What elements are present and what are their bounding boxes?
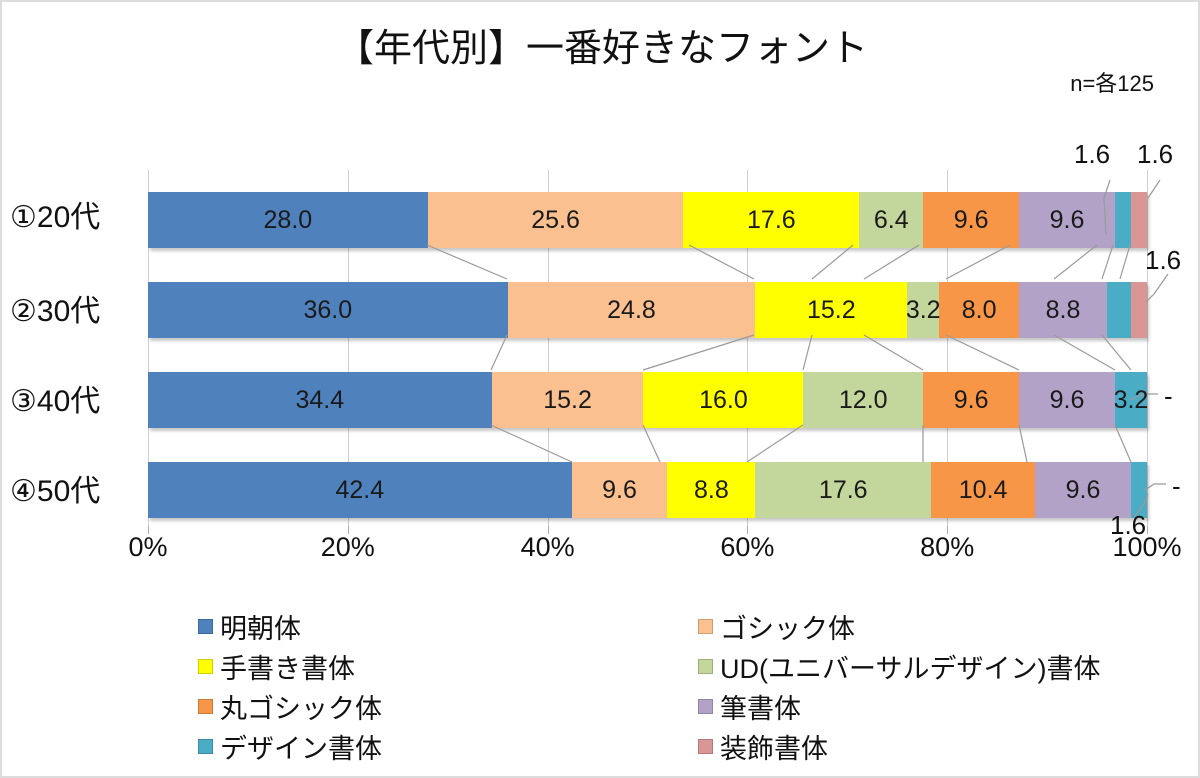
bar-segment[interactable]: 8.8 xyxy=(1019,282,1107,338)
legend-label: 丸ゴシック体 xyxy=(220,687,382,726)
legend-swatch-icon xyxy=(698,739,713,754)
bar-segment-value: 24.8 xyxy=(607,296,656,325)
bar-segment-value: 25.6 xyxy=(531,206,580,235)
x-tick-label-80: 80% xyxy=(920,532,974,563)
legend-item[interactable]: ゴシック体 xyxy=(698,607,1158,646)
bar-segment[interactable]: 28.0 xyxy=(148,192,428,248)
bar-segment-value: 9.6 xyxy=(954,386,989,415)
bar-segment-value: 17.6 xyxy=(819,476,868,505)
bar-segment-value: 6.4 xyxy=(874,206,909,235)
bar-segment[interactable]: 1.6 xyxy=(1131,192,1147,248)
bar-segment[interactable]: 3.2 xyxy=(907,282,939,338)
bar-segment[interactable]: 34.4 xyxy=(148,372,492,428)
bar-segment[interactable]: 15.2 xyxy=(755,282,907,338)
bar-segment-value: 9.6 xyxy=(602,476,637,505)
bar-row[interactable]: 42.49.68.817.610.49.61.6 xyxy=(148,462,1147,518)
row-label-30s: ②30代 xyxy=(10,286,142,330)
legend-item[interactable]: 丸ゴシック体 xyxy=(198,687,698,726)
x-tick-label-20: 20% xyxy=(321,532,375,563)
legend-label: ゴシック体 xyxy=(720,607,855,646)
bar-segment-value: 28.0 xyxy=(264,206,313,235)
bar-segment-value: 8.0 xyxy=(962,296,997,325)
legend-item[interactable]: デザイン書体 xyxy=(198,727,698,766)
bar-segment[interactable]: 16.0 xyxy=(643,372,803,428)
bar-segment-value: 9.6 xyxy=(1050,206,1085,235)
bar-segment[interactable]: 9.6 xyxy=(1019,372,1115,428)
bar-segment[interactable]: 3.2 xyxy=(1115,372,1147,428)
bar-segment-value: 9.6 xyxy=(1066,476,1101,505)
bar-segment[interactable]: 42.4 xyxy=(148,462,572,518)
bar-segment-value: 8.8 xyxy=(694,476,729,505)
bar-segment-value: 9.6 xyxy=(1050,386,1085,415)
plot-area: 28.025.617.66.49.69.61.61.636.024.815.23… xyxy=(148,170,1147,526)
chart-screenshot: 【年代別】一番好きなフォント n=各125 ①20代 ②30代 ③40代 ④50… xyxy=(0,0,1200,778)
legend-label: 筆書体 xyxy=(720,687,801,726)
bar-segment[interactable]: 9.6 xyxy=(1019,192,1115,248)
x-tick-label-100: 100% xyxy=(1112,532,1181,563)
row-label-20s: ①20代 xyxy=(10,192,142,236)
bar-segment-value: 15.2 xyxy=(807,296,856,325)
bar-segment[interactable]: 9.6 xyxy=(923,372,1019,428)
bar-segment-value: 3.2 xyxy=(1114,386,1149,415)
bar-segment-value: 15.2 xyxy=(543,386,592,415)
bar-segment-value: 10.4 xyxy=(959,476,1008,505)
legend-item[interactable]: 装飾書体 xyxy=(698,727,1158,766)
legend-label: 装飾書体 xyxy=(720,727,828,766)
bar-segment[interactable]: 12.0 xyxy=(803,372,923,428)
bar-segment[interactable]: 8.8 xyxy=(667,462,755,518)
legend-swatch-icon xyxy=(698,659,713,674)
bar-segment[interactable]: 24.8 xyxy=(508,282,756,338)
legend-swatch-icon xyxy=(198,659,213,674)
legend-label: 手書き書体 xyxy=(220,647,355,686)
bar-segment-value: 36.0 xyxy=(303,296,352,325)
legend-item[interactable]: UD(ユニバーサルデザイン)書体 xyxy=(698,647,1158,686)
bar-segment-value: 17.6 xyxy=(747,206,796,235)
bar-segment[interactable]: 8.0 xyxy=(939,282,1019,338)
bar-row[interactable]: 36.024.815.23.28.08.82.41.6 xyxy=(148,282,1147,338)
bar-segment[interactable]: 6.4 xyxy=(859,192,923,248)
bar-segment-value: 3.2 xyxy=(906,296,941,325)
callout-50s-decoration-dash: - xyxy=(1172,471,1181,502)
row-label-40s: ③40代 xyxy=(10,376,142,420)
gridline-100 xyxy=(1147,170,1148,526)
chart-title: 【年代別】一番好きなフォント xyxy=(2,26,1200,72)
callout-40s-decoration-dash: - xyxy=(1164,381,1173,412)
bar-segment[interactable]: 2.4 xyxy=(1107,282,1131,338)
bar-segment-value: 8.8 xyxy=(1046,296,1081,325)
bar-segment[interactable]: 17.6 xyxy=(683,192,859,248)
chart-legend: 明朝体ゴシック体手書き書体UD(ユニバーサルデザイン)書体丸ゴシック体筆書体デザ… xyxy=(198,606,1158,766)
callout-20s-decoration: 1.6 xyxy=(1137,139,1173,170)
legend-item[interactable]: 手書き書体 xyxy=(198,647,698,686)
bar-segment[interactable]: 17.6 xyxy=(755,462,931,518)
legend-swatch-icon xyxy=(198,619,213,634)
bar-segment[interactable]: 36.0 xyxy=(148,282,508,338)
callout-30s-decoration: 1.6 xyxy=(1145,245,1181,276)
sample-size-note: n=各125 xyxy=(1070,66,1154,98)
legend-label: 明朝体 xyxy=(220,607,301,646)
x-tick-label-60: 60% xyxy=(720,532,774,563)
bar-segment[interactable]: 9.6 xyxy=(572,462,668,518)
bar-segment-value: 42.4 xyxy=(335,476,384,505)
legend-swatch-icon xyxy=(198,699,213,714)
legend-item[interactable]: 明朝体 xyxy=(198,607,698,646)
bar-segment[interactable]: 1.6 xyxy=(1131,282,1147,338)
legend-item[interactable]: 筆書体 xyxy=(698,687,1158,726)
bar-segment[interactable]: 1.6 xyxy=(1115,192,1131,248)
bar-segment[interactable]: 15.2 xyxy=(492,372,644,428)
bar-segment[interactable]: 25.6 xyxy=(428,192,684,248)
bar-segment-value: 9.6 xyxy=(954,206,989,235)
legend-swatch-icon xyxy=(698,699,713,714)
bar-row[interactable]: 28.025.617.66.49.69.61.61.6 xyxy=(148,192,1147,248)
bar-row[interactable]: 34.415.216.012.09.69.63.2 xyxy=(148,372,1147,428)
bar-segment[interactable]: 10.4 xyxy=(931,462,1035,518)
legend-label: UD(ユニバーサルデザイン)書体 xyxy=(720,647,1100,686)
bar-segment-value: 12.0 xyxy=(839,386,888,415)
x-tick-label-0: 0% xyxy=(128,532,167,563)
legend-swatch-icon xyxy=(198,739,213,754)
x-tick-label-40: 40% xyxy=(521,532,575,563)
bar-segment[interactable]: 9.6 xyxy=(923,192,1019,248)
callout-20s-design: 1.6 xyxy=(1074,139,1110,170)
bar-segment-value: 34.4 xyxy=(295,386,344,415)
bar-segment-value: 16.0 xyxy=(699,386,748,415)
legend-swatch-icon xyxy=(698,619,713,634)
row-label-50s: ④50代 xyxy=(10,466,142,510)
legend-label: デザイン書体 xyxy=(220,727,382,766)
